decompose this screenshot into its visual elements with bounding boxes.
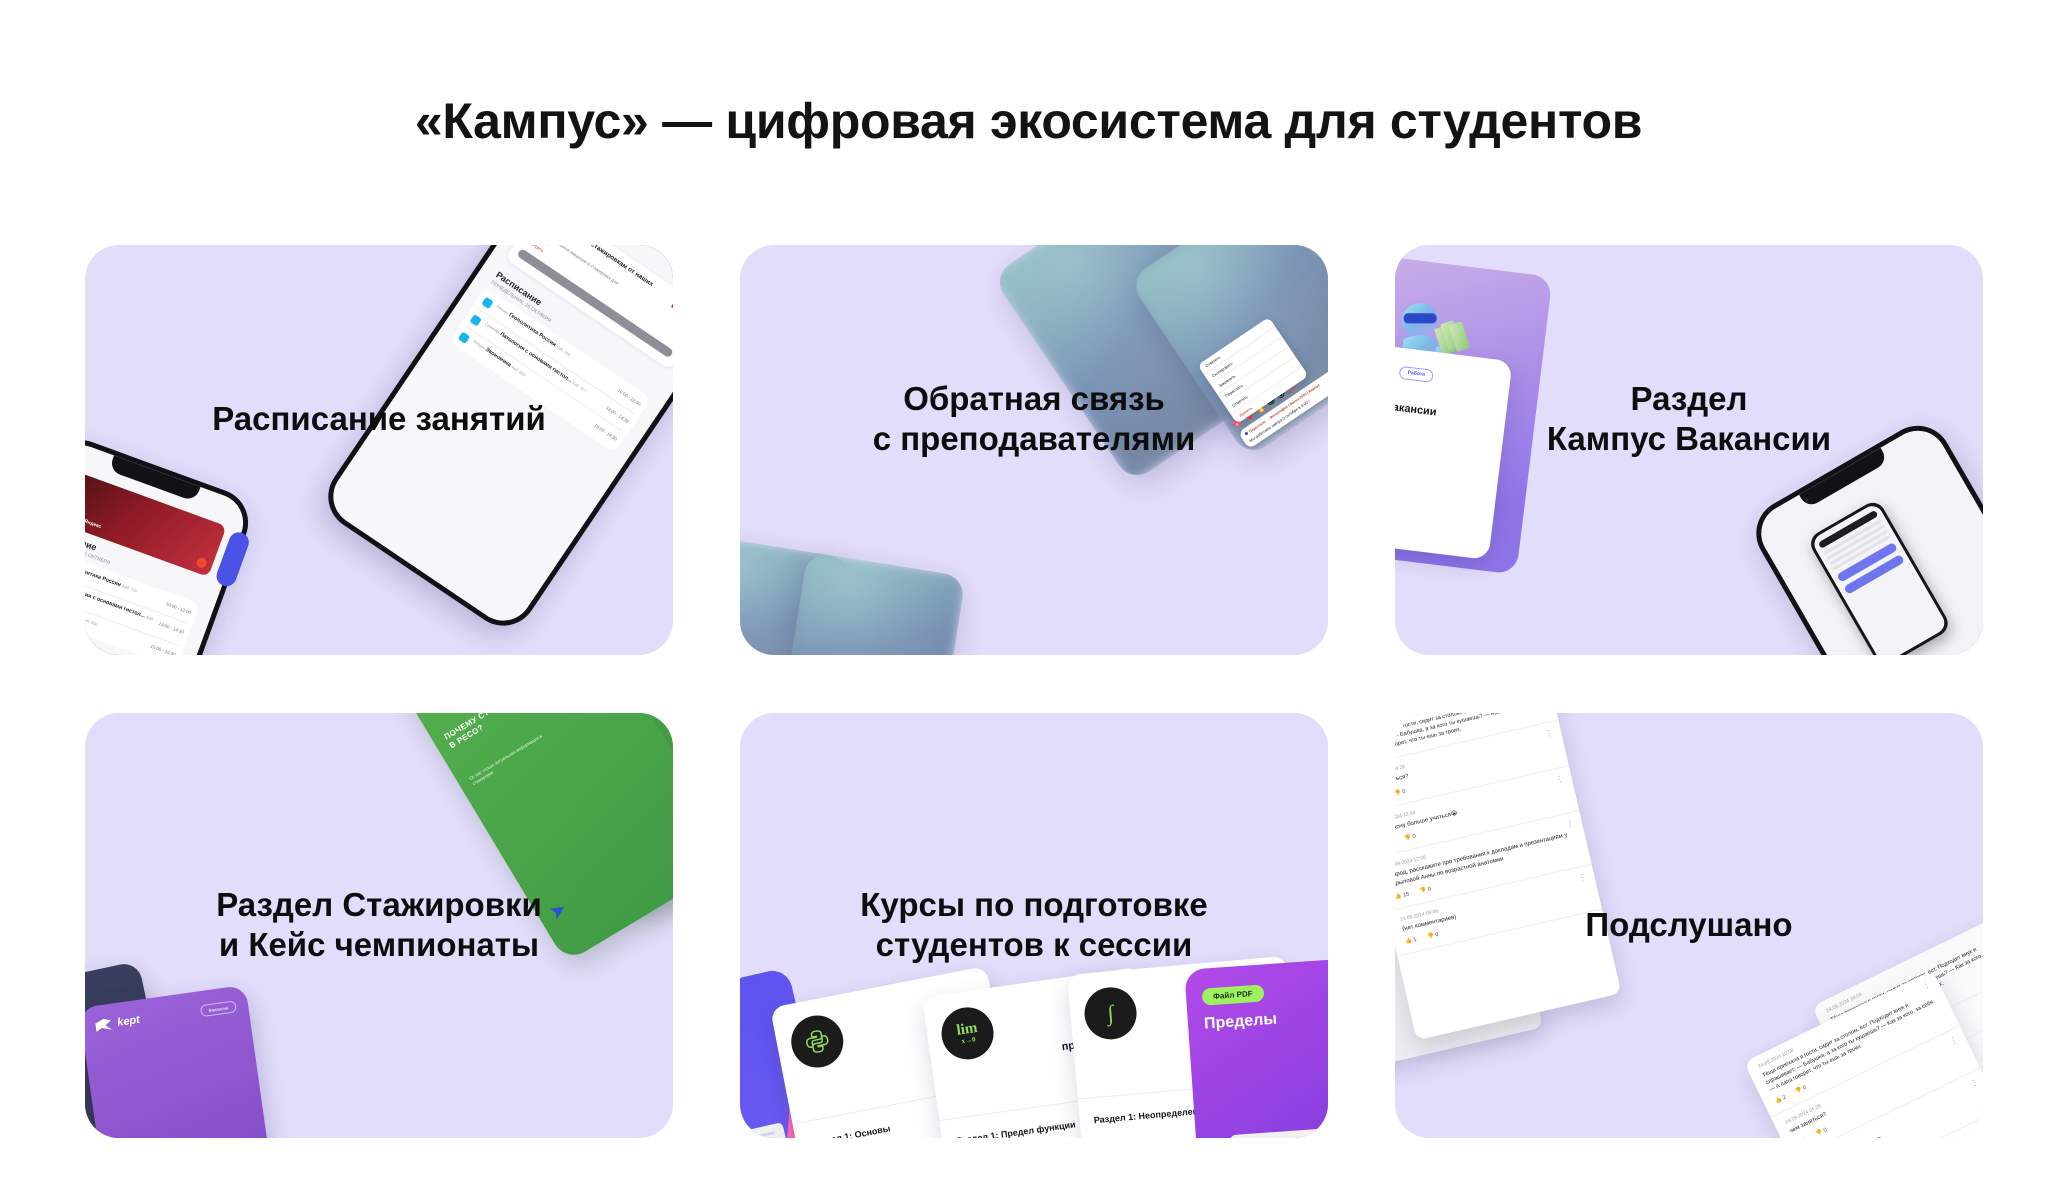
thumbs-up-icon[interactable]: 👍 1 xyxy=(1405,937,1418,945)
courses-artwork: Python Раздел 1: Основы Урок 1: Типы дан… xyxy=(740,713,1328,1138)
thumbs-up-icon[interactable]: 👍 1 xyxy=(1795,1137,1808,1138)
reso-arrow-icon xyxy=(550,902,568,920)
dislike-count: 0 xyxy=(1412,834,1416,841)
python-icon xyxy=(787,1011,848,1072)
feature-card-courses[interactable]: Python Раздел 1: Основы Урок 1: Типы дан… xyxy=(740,713,1328,1138)
lim-sub-glyph: x→0 xyxy=(958,1036,980,1046)
like-count: 1 xyxy=(1413,937,1417,944)
more-vertical-icon[interactable]: ⋮ xyxy=(1970,1079,1979,1087)
more-vertical-icon[interactable]: ⋮ xyxy=(1950,1038,1959,1046)
dislike-count: 0 xyxy=(1802,1085,1807,1092)
lesson-room: Каб. 110 xyxy=(122,583,138,593)
page-title: «Кампус» — цифровая экосистема для студе… xyxy=(0,92,2057,150)
lesson-room: Каб. 117 xyxy=(572,380,588,393)
chat-screenshot-bottom-right: 💖 ❤️ 😂 😮 🔥 Перестало → Философия | Весна… xyxy=(778,552,966,655)
thumbs-up-icon[interactable]: 👍 2 xyxy=(1775,1095,1788,1105)
vacancies-artwork: Стажировка Работа КАМПУС Кампус Вакансии… xyxy=(1395,245,1983,655)
feature-card-internships[interactable]: ПОЧЕМУ СТОИТ РАБОТАТЬ В РЕСО? РЕСО ПОЧЕМ… xyxy=(85,713,673,1138)
overheard-artwork: 24.09.2024 10:08 Тёща приехала в гости, … xyxy=(1395,713,1983,1138)
thumbs-down-icon[interactable]: 👎 0 xyxy=(1815,1127,1828,1137)
feedback-artwork: 💖 ❤️ 🔥 😂 😮 💯 Перестало → Философия | Вес… xyxy=(740,245,1328,655)
dislike-count: 0 xyxy=(1402,788,1406,795)
feature-card-feedback[interactable]: 💖 ❤️ 🔥 😂 😮 💯 Перестало → Философия | Вес… xyxy=(740,245,1328,655)
tint-layer xyxy=(778,552,966,655)
course-section: Раздел 1: Предел функции xyxy=(956,1119,1076,1138)
dislike-count: 0 xyxy=(1427,886,1431,893)
author-dot-icon xyxy=(1245,432,1249,436)
kept-card-front: kept Вакансии Начни карьеру в аудите Без… xyxy=(85,985,287,1138)
lesson-kind: Семинар xyxy=(484,321,501,335)
more-vertical-icon[interactable]: ⋮ xyxy=(1922,982,1931,990)
rzd-logo-icon: РЖД xyxy=(667,295,673,327)
lesson-room: Каб. 650 xyxy=(511,364,527,377)
lim-icon: lim x→0 xyxy=(938,1004,997,1063)
kept-brand-row: kept xyxy=(95,1014,141,1032)
schedule-artwork: 9:41 Главная Подготовка к сессии РЖД Пре… xyxy=(85,245,673,655)
integral-icon: ∫ xyxy=(1082,985,1138,1041)
more-vertical-icon[interactable]: ⋮ xyxy=(1566,822,1575,828)
lesson-type-icon xyxy=(481,297,493,309)
lesson-type-icon xyxy=(458,331,470,343)
like-count: 1 xyxy=(1802,1137,1807,1138)
kept-vacancy-pill[interactable]: Вакансии xyxy=(200,1000,237,1017)
lesson-time: 13:00 - 14:30 xyxy=(158,619,185,635)
paper-sheet xyxy=(1230,1126,1328,1138)
thumbs-down-icon[interactable]: 👎 0 xyxy=(1419,886,1432,894)
internships-artwork: ПОЧЕМУ СТОИТ РАБОТАТЬ В РЕСО? РЕСО ПОЧЕМ… xyxy=(85,713,673,1138)
pdf-title: Пределы xyxy=(1203,1005,1328,1034)
thumbs-down-icon[interactable]: 👎 0 xyxy=(1795,1085,1808,1095)
more-vertical-icon[interactable]: ⋮ xyxy=(1545,731,1554,737)
thumbs-up-icon[interactable]: 👍 15 xyxy=(1395,891,1410,900)
lesson-time: 10:00 - 12:00 xyxy=(165,599,192,615)
thumbs-down-icon[interactable]: 👎 0 xyxy=(1395,788,1406,796)
pdf-file-card[interactable]: Файл PDF Пределы xyxy=(1184,957,1328,1138)
phone-mockup-vacancies: Добро пожаловать в Кампус Вакансии Что в… xyxy=(1744,413,1983,655)
thumbs-down-icon[interactable]: 👎 0 xyxy=(1427,932,1440,940)
lesson-type-icon xyxy=(470,314,482,326)
course-section: Раздел 1: Основы xyxy=(810,1123,891,1138)
phone-mockup-schedule-bottom: Карьера в Яндекс Расписание ПОНЕДЕЛЬНИК,… xyxy=(85,431,258,655)
hero-caption: Карьера в Яндекс xyxy=(85,509,102,530)
lesson-room: Каб. 110 xyxy=(556,344,572,357)
feature-card-vacancies[interactable]: Стажировка Работа КАМПУС Кампус Вакансии… xyxy=(1395,245,1983,655)
paper-sheet xyxy=(740,1122,796,1138)
thumbs-down-icon[interactable]: 👎 0 xyxy=(1404,834,1417,842)
chip-job[interactable]: Работа xyxy=(1399,365,1434,382)
dislike-count: 0 xyxy=(1435,932,1439,939)
dislike-count: 0 xyxy=(1823,1127,1828,1134)
overheard-feed-left[interactable]: ⋮ 24.09.2024 10:08 Тёща приехала в гости… xyxy=(1395,713,1621,1040)
pdf-badge: Файл PDF xyxy=(1202,984,1265,1005)
phone-mockup-schedule-top: 9:41 Главная Подготовка к сессии РЖД Пре… xyxy=(315,245,673,639)
like-count: 15 xyxy=(1403,891,1410,898)
feature-card-overheard[interactable]: 24.09.2024 10:08 Тёща приехала в гости, … xyxy=(1395,713,1983,1138)
slide-root: «Кампус» — цифровая экосистема для студе… xyxy=(0,0,2057,1197)
feature-card-grid: 9:41 Главная Подготовка к сессии РЖД Пре… xyxy=(85,245,1975,1150)
kept-brand-name: kept xyxy=(117,1014,141,1029)
inner-phone-mockup xyxy=(1806,498,1952,655)
hero-badge-icon xyxy=(195,556,208,569)
more-vertical-icon[interactable]: ⋮ xyxy=(1555,776,1564,782)
like-count: 2 xyxy=(1782,1095,1787,1102)
integral-glyph: ∫ xyxy=(1106,1000,1114,1026)
lesson-room: Каб. 650 xyxy=(85,616,98,626)
feature-card-schedule[interactable]: 9:41 Главная Подготовка к сессии РЖД Пре… xyxy=(85,245,673,655)
lesson-kind: Лекция xyxy=(496,304,510,316)
more-vertical-icon[interactable]: ⋮ xyxy=(1578,875,1587,881)
reso-card-front: РЕСО ПОЧЕМУ СТОИТ РАБОТАТЬ В РЕСО? От на… xyxy=(396,713,673,963)
kept-logo-icon xyxy=(95,1018,113,1032)
lesson-time: 15:00 - 16:30 xyxy=(150,641,177,655)
lesson-kind: Лекция xyxy=(472,338,486,350)
vacancy-chip-row: Стажировка Работа xyxy=(1395,353,1499,390)
lesson-time: 10:00 - 12:00 xyxy=(617,386,643,407)
python-glyph-icon xyxy=(801,1025,834,1058)
